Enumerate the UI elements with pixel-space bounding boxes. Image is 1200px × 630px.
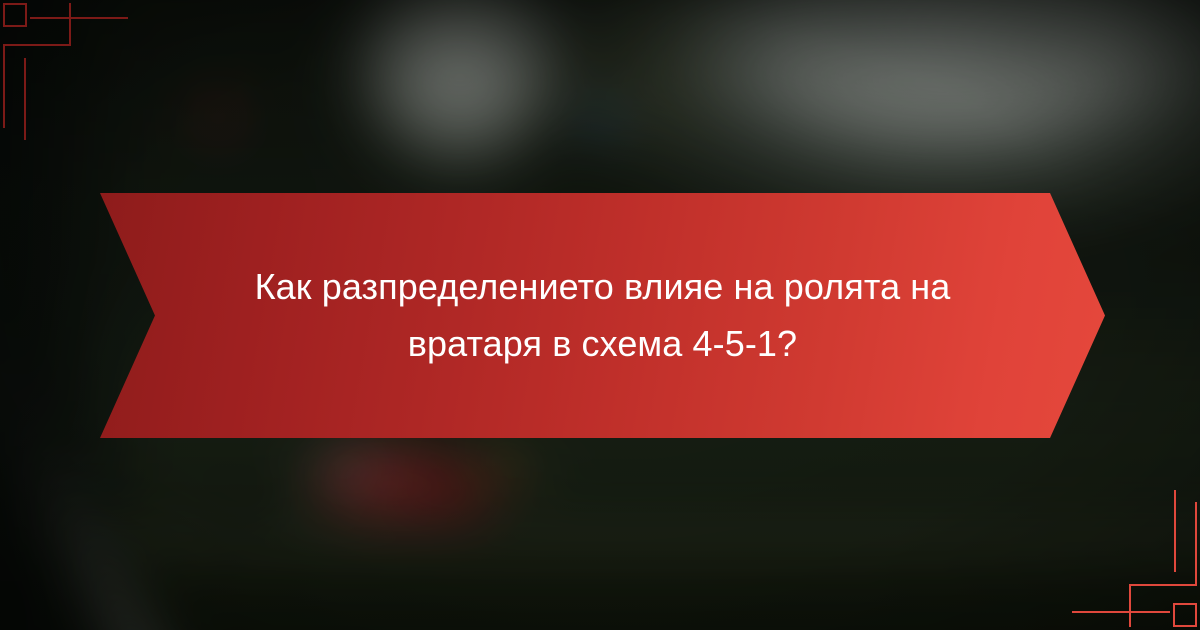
headline-banner: Как разпределението влияе на ролята на в… — [100, 193, 1105, 438]
corner-line-right-inner — [1174, 490, 1176, 572]
share-card: Как разпределението влияе на ролята на в… — [0, 0, 1200, 630]
corner-line-bottom — [1072, 611, 1170, 613]
corner-line-bracket-vertical — [69, 3, 71, 46]
corner-line-left-outer — [3, 44, 5, 128]
corner-line-left-inner — [24, 58, 26, 140]
corner-line-bracket-horizontal — [3, 44, 71, 46]
corner-line-right-outer — [1195, 502, 1197, 586]
corner-line-bracket-vertical — [1129, 584, 1131, 627]
corner-square-icon — [3, 3, 27, 27]
corner-square-icon — [1173, 603, 1197, 627]
corner-line-top — [30, 17, 128, 19]
headline-text: Как разпределението влияе на ролята на в… — [210, 193, 995, 438]
corner-line-bracket-horizontal — [1129, 584, 1197, 586]
corner-frame-top-left — [0, 0, 130, 150]
corner-frame-bottom-right — [1070, 480, 1200, 630]
